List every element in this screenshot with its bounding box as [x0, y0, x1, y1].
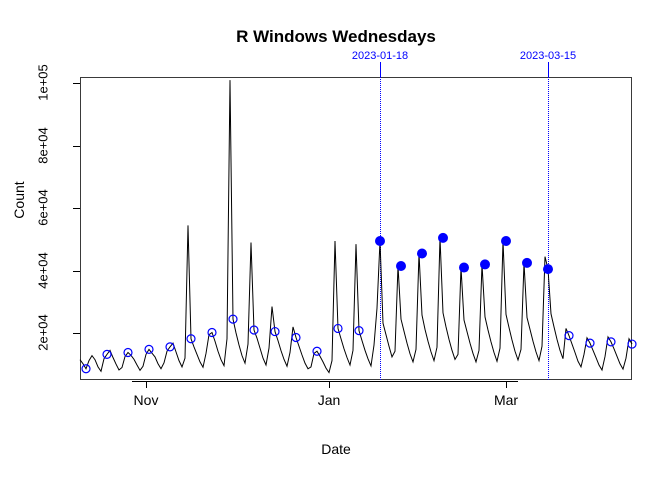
marker-filled-circle [417, 248, 427, 258]
marker-filled-circle [501, 236, 511, 246]
marker-filled-circle [522, 258, 532, 268]
marker-filled-circle [459, 263, 469, 273]
marker-filled-circle [480, 259, 490, 269]
marker-filled-circle [396, 261, 406, 271]
marker-filled-circle [438, 233, 448, 243]
series-plot [0, 0, 672, 480]
chart-root: R Windows Wednesdays Count Date 2e+044e+… [0, 0, 672, 480]
marker-filled-circle [375, 236, 385, 246]
marker-filled-circle [543, 264, 553, 274]
